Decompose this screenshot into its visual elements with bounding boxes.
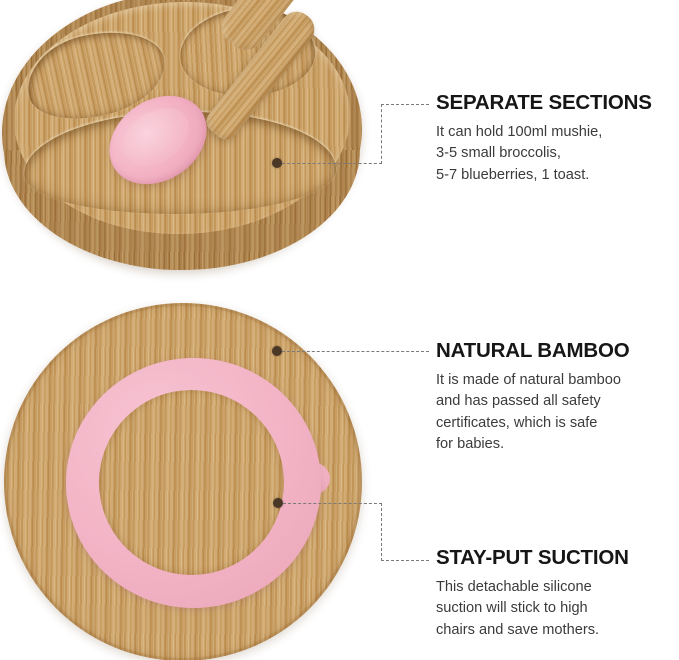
callout-separate-sections: SEPARATE SECTIONS It can hold 100ml mush… (436, 92, 679, 186)
callout-body-line: 5-7 blueberries, 1 toast. (436, 165, 679, 187)
callout-body: It can hold 100ml mushie, 3-5 small broc… (436, 122, 679, 187)
leader-line-1-vertical (381, 104, 382, 164)
callout-body-line: 3-5 small broccolis, (436, 143, 679, 165)
product-photo-plate-underside (0, 300, 400, 660)
leader-line-3-horizontal-lower (381, 560, 429, 561)
leader-line-3-vertical (381, 503, 382, 561)
leader-line-2-horizontal (282, 351, 429, 352)
callout-body-line: suction will stick to high (436, 598, 679, 620)
callout-title: SEPARATE SECTIONS (436, 92, 679, 115)
callout-marker-dot-separate-sections (272, 158, 282, 168)
callout-natural-bamboo: NATURAL BAMBOO It is made of natural bam… (436, 340, 679, 456)
callout-body: It is made of natural bamboo and has pas… (436, 370, 679, 456)
callout-body-line: certificates, which is safe (436, 413, 679, 435)
suction-ring-center-opening (99, 390, 284, 575)
bamboo-spoon (90, 0, 330, 210)
callout-body-line: and has passed all safety (436, 391, 679, 413)
infographic-page: SEPARATE SECTIONS It can hold 100ml mush… (0, 0, 679, 660)
callout-body-line: chairs and save mothers. (436, 620, 679, 642)
leader-line-1-horizontal-lower (282, 163, 382, 164)
leader-line-3-horizontal-upper (283, 503, 382, 504)
callout-title: NATURAL BAMBOO (436, 340, 679, 363)
callout-stay-put-suction: STAY-PUT SUCTION This detachable silicon… (436, 547, 679, 641)
callout-body: This detachable silicone suction will st… (436, 577, 679, 642)
callout-body-line: This detachable silicone (436, 577, 679, 599)
callout-body-line: for babies. (436, 434, 679, 456)
callout-body-line: It can hold 100ml mushie, (436, 122, 679, 144)
callout-marker-dot-natural-bamboo (272, 346, 282, 356)
callout-body-line: It is made of natural bamboo (436, 370, 679, 392)
leader-line-1-horizontal-upper (381, 104, 429, 105)
callout-title: STAY-PUT SUCTION (436, 547, 679, 570)
callout-marker-dot-stay-put-suction (273, 498, 283, 508)
product-photo-divided-plate (0, 0, 400, 285)
